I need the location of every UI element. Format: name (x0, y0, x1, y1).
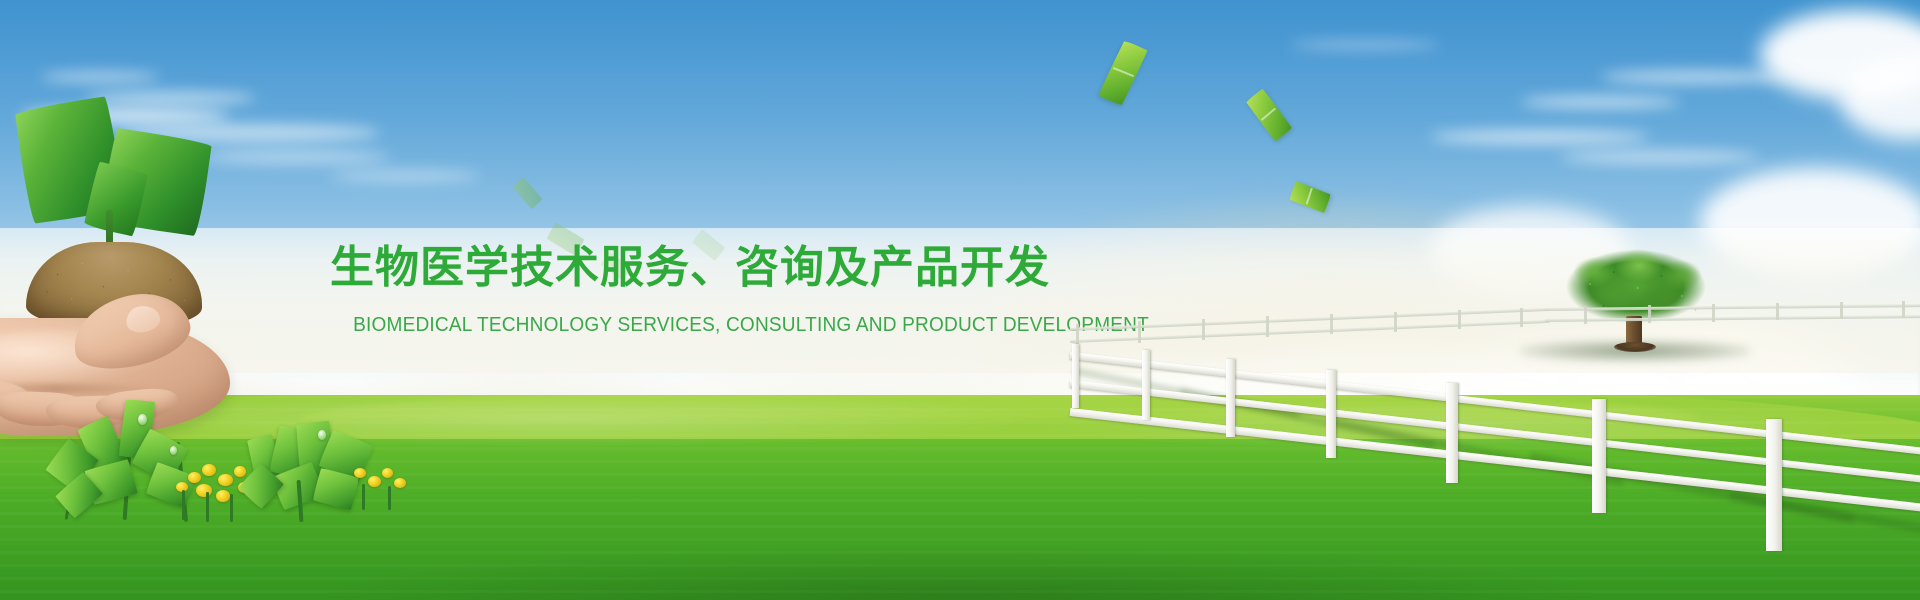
fence-rail-far (1070, 308, 1550, 331)
fence-post (1592, 399, 1606, 513)
ground-plants (30, 380, 460, 580)
fence-post-far (1520, 308, 1523, 327)
page-subtitle: BIOMEDICAL TECHNOLOGY SERVICES, CONSULTI… (353, 313, 967, 337)
fence-rail-far (1545, 315, 1920, 322)
banner-hero: 生物医学技术服务、咨询及产品开发 BIOMEDICAL TECHNOLOGY S… (0, 0, 1920, 600)
yellow-flower (188, 472, 201, 483)
flower-stem (206, 492, 209, 522)
cloud-wisp (1430, 130, 1650, 144)
fence-post-far (1776, 303, 1779, 320)
page-title: 生物医学技术服务、咨询及产品开发 (330, 246, 990, 290)
yellow-flower (216, 490, 230, 502)
fence-post (1766, 419, 1782, 551)
fence-near (1030, 330, 1920, 600)
yellow-flower (368, 476, 381, 487)
cloud-wisp (1290, 40, 1440, 50)
fence-post (1446, 383, 1458, 483)
fence-post-far (1584, 306, 1587, 324)
yellow-flower (196, 484, 212, 497)
yellow-flower (354, 468, 366, 478)
fence-post-far (1840, 302, 1843, 319)
dew-drop (138, 414, 147, 425)
flower-stem (362, 484, 365, 510)
fence-post (1326, 370, 1336, 458)
cloud-wisp (40, 72, 160, 82)
fence-rail-top (1070, 352, 1920, 457)
flower-stem (388, 486, 391, 510)
yellow-flower (234, 466, 246, 477)
dew-drop (170, 446, 177, 455)
fence-post-far (1648, 305, 1651, 323)
fence-post (1226, 359, 1235, 437)
fence-post (1072, 344, 1079, 408)
cloud-wisp (86, 92, 256, 104)
cloud-wisp (1560, 150, 1760, 164)
yellow-flower (382, 468, 393, 478)
cloud-wisp (1520, 96, 1680, 108)
fence-post-far (1712, 304, 1715, 322)
cloud-wisp (330, 170, 480, 182)
yellow-flower (394, 478, 406, 488)
fence-post (1142, 350, 1150, 420)
fence-post-far (1394, 312, 1397, 332)
cloud-wisp (1600, 70, 1790, 84)
yellow-flower (202, 464, 216, 476)
yellow-flower (218, 474, 233, 486)
flower-stem (182, 490, 185, 520)
fence-post-far (1902, 301, 1905, 318)
fence-post-far (1458, 310, 1461, 329)
flower-stem (230, 494, 233, 522)
dew-drop (318, 430, 326, 440)
